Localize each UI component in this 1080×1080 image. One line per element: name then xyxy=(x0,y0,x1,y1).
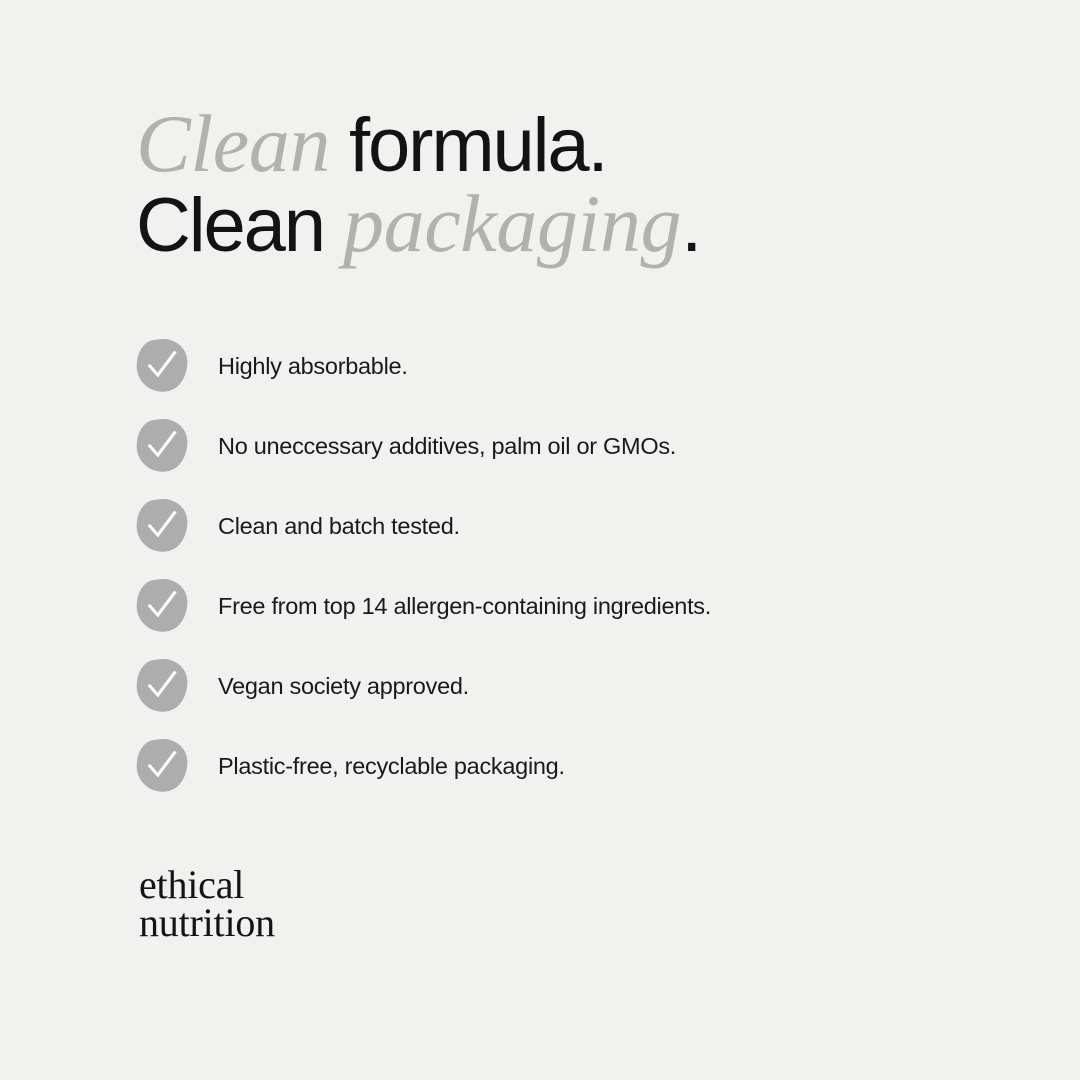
headline-word-clean: Clean xyxy=(136,183,324,268)
list-item-label: Clean and batch tested. xyxy=(218,498,1036,539)
list-item-label: Highly absorbable. xyxy=(218,338,1036,379)
benefits-list: Highly absorbable. No uneccessary additi… xyxy=(136,338,1036,818)
headline-space-2 xyxy=(324,183,343,268)
list-item: Vegan society approved. xyxy=(136,658,1036,738)
headline-accent-packaging: packaging xyxy=(343,178,681,269)
check-circle-icon xyxy=(136,578,188,632)
headline-accent-clean: Clean xyxy=(136,98,330,189)
check-circle-icon xyxy=(136,498,188,552)
headline-word-formula: formula xyxy=(349,103,588,188)
check-circle-icon xyxy=(136,658,188,712)
brand-logo: ethical nutrition xyxy=(139,866,275,942)
list-item: Free from top 14 allergen-containing ing… xyxy=(136,578,1036,658)
poster-canvas: Clean formula. Clean packaging. Highly a… xyxy=(0,0,1080,1080)
list-item-label: Vegan society approved. xyxy=(218,658,1036,699)
list-item: No uneccessary additives, palm oil or GM… xyxy=(136,418,1036,498)
check-circle-icon xyxy=(136,338,188,392)
list-item: Clean and batch tested. xyxy=(136,498,1036,578)
headline-period-2: . xyxy=(681,183,700,268)
check-circle-icon xyxy=(136,738,188,792)
check-circle-icon xyxy=(136,418,188,472)
list-item-label: Plastic-free, recyclable packaging. xyxy=(218,738,1036,779)
brand-logo-line-1: ethical xyxy=(139,866,275,904)
headline-plain-formula xyxy=(330,103,349,188)
page-title: Clean formula. Clean packaging. xyxy=(136,104,1016,263)
list-item: Highly absorbable. xyxy=(136,338,1036,418)
headline-line-2: Clean packaging. xyxy=(136,184,1016,264)
list-item: Plastic-free, recyclable packaging. xyxy=(136,738,1036,818)
headline-period-1: . xyxy=(588,103,607,188)
list-item-label: Free from top 14 allergen-containing ing… xyxy=(218,578,1036,619)
list-item-label: No uneccessary additives, palm oil or GM… xyxy=(218,418,1036,459)
brand-logo-line-2: nutrition xyxy=(139,904,275,942)
headline-line-1: Clean formula. xyxy=(136,104,1016,184)
